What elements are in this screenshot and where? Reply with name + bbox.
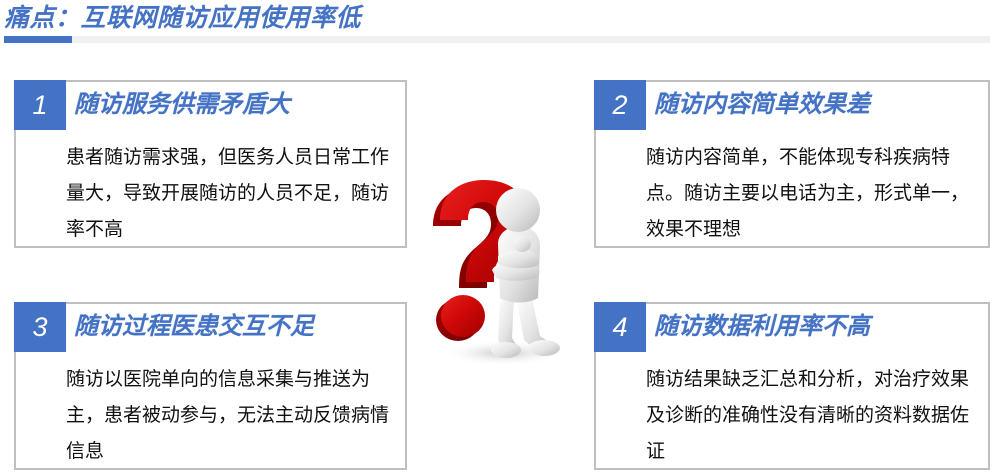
card-number-badge: 1 (14, 80, 66, 130)
card-body-text: 患者随访需求强，但医务人员日常工作量大，导致开展随访的人员不足，随访率不高 (66, 140, 389, 248)
figure-hand (513, 236, 531, 252)
figure-left-foot (491, 342, 521, 358)
slide-canvas: 痛点：互联网随访应用使用率低 1 随访服务供需矛盾大 患者随访需求强，但医务人员… (0, 0, 1001, 476)
pain-point-card-4[interactable]: 4 随访数据利用率不高 随访结果缺乏汇总和分析，对治疗效果及诊断的准确性没有清晰… (594, 302, 990, 470)
title-underline-accent (4, 36, 72, 43)
figure-head (496, 188, 540, 232)
card-number-badge: 3 (14, 302, 66, 352)
card-body-text: 随访以医院单向的信息采集与推送为主，患者被动参与，无法主动反馈病情信息 (66, 362, 389, 470)
card-body-text: 随访内容简单，不能体现专科疾病特点。随访主要以电话为主，形式单一，效果不理想 (646, 140, 972, 248)
card-heading: 随访过程医患交互不足 (74, 306, 314, 348)
figure-right-foot (528, 340, 560, 356)
card-heading: 随访内容简单效果差 (654, 84, 870, 126)
page-title: 痛点：互联网随访应用使用率低 (4, 2, 361, 34)
pain-point-card-3[interactable]: 3 随访过程医患交互不足 随访以医院单向的信息采集与推送为主，患者被动参与，无法… (14, 302, 407, 470)
card-heading: 随访数据利用率不高 (654, 306, 870, 348)
card-number-badge: 4 (594, 302, 646, 352)
pain-point-card-1[interactable]: 1 随访服务供需矛盾大 患者随访需求强，但医务人员日常工作量大，导致开展随访的人… (14, 80, 407, 248)
title-underline (4, 36, 990, 43)
card-number-badge: 2 (594, 80, 646, 130)
pain-point-card-2[interactable]: 2 随访内容简单效果差 随访内容简单，不能体现专科疾病特点。随访主要以电话为主，… (594, 80, 990, 248)
card-heading: 随访服务供需矛盾大 (74, 84, 290, 126)
question-mark-illustration (418, 178, 583, 373)
title-underline-grey (4, 36, 990, 43)
figure-folded-arm-upper (498, 250, 539, 268)
card-body-text: 随访结果缺乏汇总和分析，对治疗效果及诊断的准确性没有清晰的资料数据佐证 (646, 362, 972, 470)
question-mark-dot (441, 295, 485, 337)
